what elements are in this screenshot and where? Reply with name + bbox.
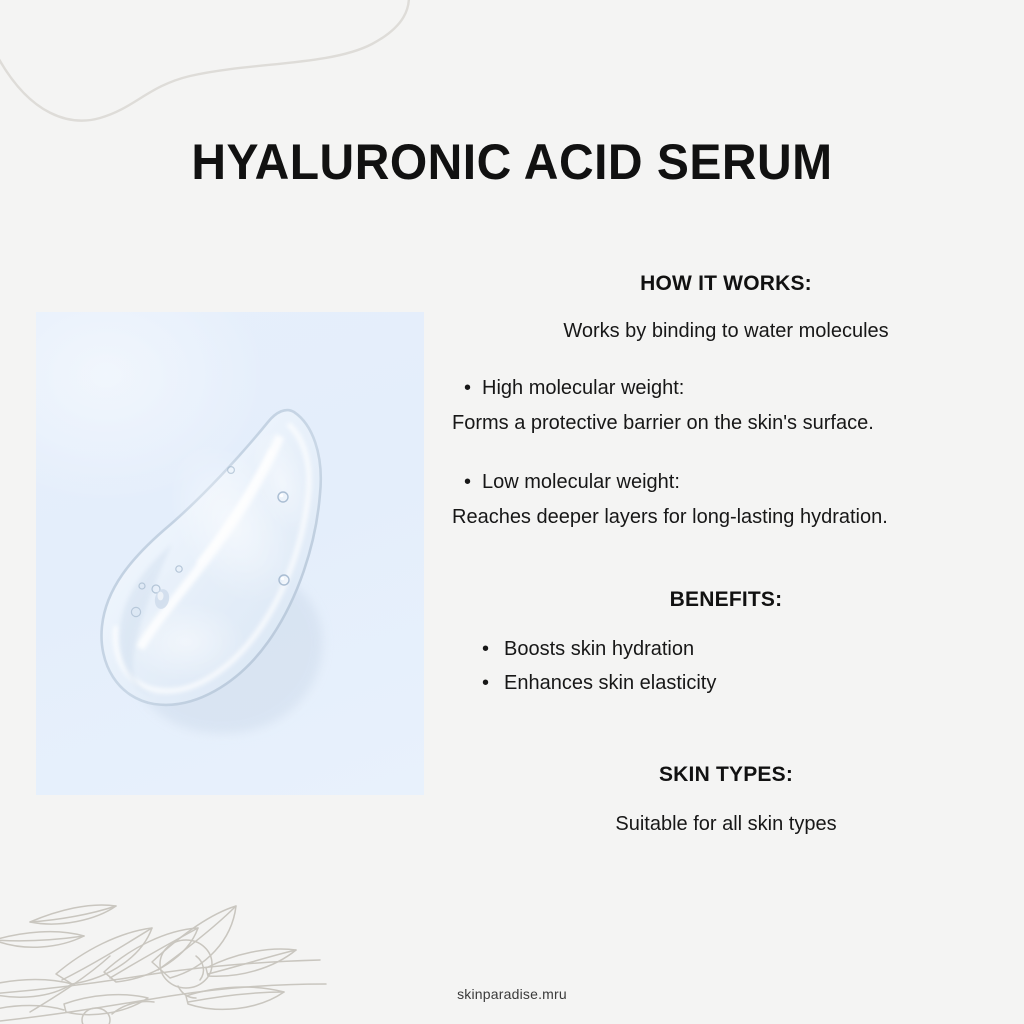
gel-droplet-icon: [36, 312, 424, 795]
content-column: HOW IT WORKS: Works by binding to water …: [452, 272, 1000, 836]
benefits-heading: BENEFITS:: [452, 588, 1000, 612]
bullet-label-high-molecular-weight: High molecular weight:: [452, 377, 1000, 400]
how-it-works-item-1: High molecular weight: Forms a protectiv…: [452, 377, 1000, 437]
infographic-canvas: HYALURONIC ACID SERUM: [0, 0, 1024, 1024]
skin-types-heading: SKIN TYPES:: [452, 763, 1000, 787]
bullet-description-low-molecular-weight: Reaches deeper layers for long-lasting h…: [452, 503, 1000, 531]
how-it-works-heading: HOW IT WORKS:: [452, 272, 1000, 296]
list-item: Boosts skin hydration: [482, 632, 1000, 666]
page-title: HYALURONIC ACID SERUM: [20, 137, 1003, 187]
curved-line-decoration-icon: [0, 0, 430, 150]
benefits-list: Boosts skin hydration Enhances skin elas…: [452, 632, 1000, 701]
bullet-label-low-molecular-weight: Low molecular weight:: [452, 471, 1000, 494]
footer-handle: skinparadise.mru: [0, 986, 1024, 1002]
bullet-description-high-molecular-weight: Forms a protective barrier on the skin's…: [452, 409, 1000, 437]
how-it-works-lead: Works by binding to water molecules: [452, 320, 1000, 343]
how-it-works-item-2: Low molecular weight: Reaches deeper lay…: [452, 471, 1000, 531]
skin-types-text: Suitable for all skin types: [452, 813, 1000, 836]
list-item: Enhances skin elasticity: [482, 666, 1000, 700]
product-image-panel: [36, 312, 424, 795]
